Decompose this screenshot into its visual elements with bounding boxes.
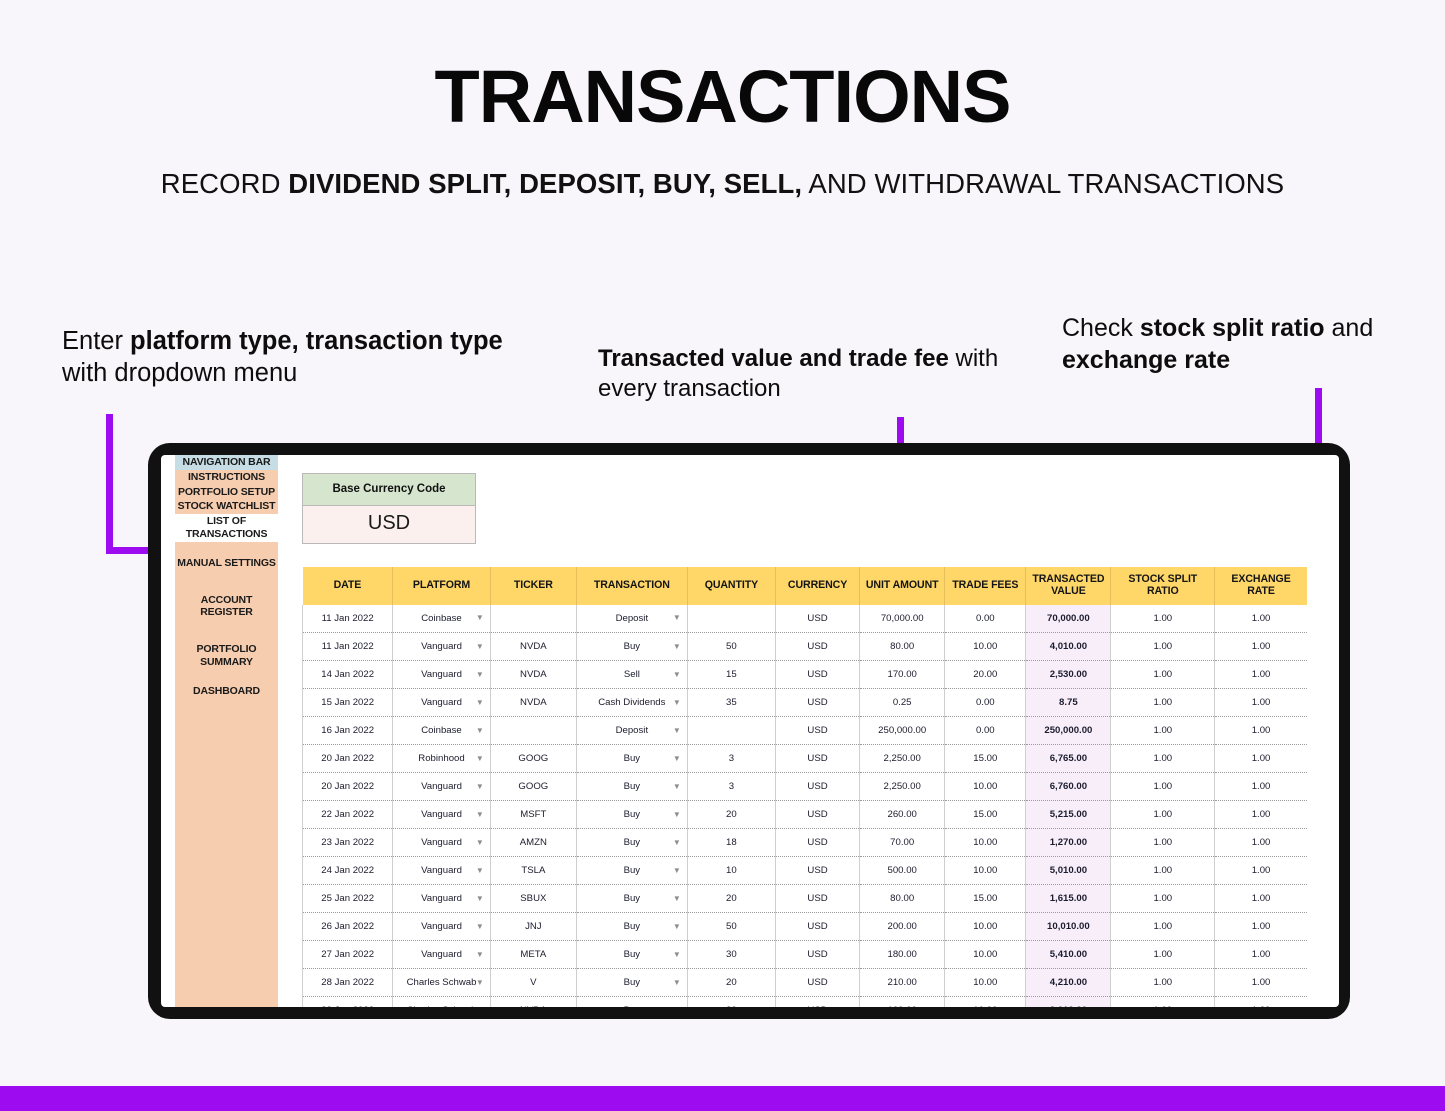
cell-date: 15 Jan 2022 (321, 697, 374, 708)
cell-date-container: 14 Jan 2022 (303, 661, 393, 689)
cell-stock-split-ratio-container: 1.00 (1111, 857, 1215, 885)
chevron-down-icon[interactable]: ▼ (476, 614, 484, 622)
cell-platform-container[interactable]: Vanguard▼ (393, 689, 490, 717)
cell-date-container: 22 Jan 2022 (303, 801, 393, 829)
cell-transacted-value-container: 6,765.00 (1026, 745, 1111, 773)
cell-transaction-container[interactable]: Deposit▼ (576, 605, 687, 633)
chevron-down-icon[interactable]: ▼ (673, 671, 681, 679)
cell-platform-container[interactable]: Vanguard▼ (393, 857, 490, 885)
cell-trade-fees-container: 0.00 (945, 717, 1026, 745)
cell-exchange-rate-container: 1.00 (1215, 773, 1307, 801)
column-header-exchange-rate: EXCHANGE RATE (1215, 567, 1307, 605)
cell-quantity-container: 50 (687, 913, 775, 941)
table-row: 20 Jan 2022Robinhood▼GOOGBuy▼3USD2,250.0… (303, 745, 1308, 773)
cell-transaction-container[interactable]: Buy▼ (576, 801, 687, 829)
cell-date: 11 Jan 2022 (322, 613, 374, 624)
chevron-down-icon[interactable]: ▼ (673, 614, 681, 622)
sidebar-item-dashboard[interactable]: DASHBOARD (175, 684, 278, 699)
cell-stock-split-ratio: 1.00 (1153, 893, 1172, 904)
callout-platform-type-part-1: platform type, transaction type (130, 327, 503, 355)
cell-date-container: 23 Jan 2022 (303, 829, 393, 857)
cell-transaction-container[interactable]: Buy▼ (576, 913, 687, 941)
page-subtitle-rich: RECORD DIVIDEND SPLIT, DEPOSIT, BUY, SEL… (161, 168, 1284, 199)
cell-ticker-container: GOOG (490, 745, 576, 773)
cell-platform: Charles Schwab (407, 1005, 477, 1007)
cell-exchange-rate: 1.00 (1252, 949, 1271, 960)
cell-unit-amount-container: 260.00 (860, 801, 945, 829)
cell-exchange-rate: 1.00 (1252, 865, 1271, 876)
cell-trade-fees-container: 10.00 (945, 997, 1026, 1007)
table-row: 25 Jan 2022Vanguard▼SBUXBuy▼20USD80.0015… (303, 885, 1308, 913)
cell-ticker-container: NVDA (490, 689, 576, 717)
cell-quantity: 15 (726, 669, 737, 680)
cell-exchange-rate-container: 1.00 (1215, 857, 1307, 885)
cell-unit-amount: 210.00 (888, 977, 917, 988)
cell-platform-container[interactable]: Vanguard▼ (393, 913, 490, 941)
cell-platform-container[interactable]: Vanguard▼ (393, 941, 490, 969)
cell-platform: Vanguard (421, 809, 462, 820)
cell-transacted-value-container: 250,000.00 (1026, 717, 1111, 745)
chevron-down-icon[interactable]: ▼ (673, 839, 681, 847)
cell-transacted-value-container: 8.75 (1026, 689, 1111, 717)
cell-currency: USD (807, 949, 827, 960)
sidebar-spacer (175, 620, 278, 642)
cell-quantity-container: 3 (687, 773, 775, 801)
chevron-down-icon[interactable]: ▼ (673, 699, 681, 707)
chevron-down-icon[interactable]: ▼ (673, 643, 681, 651)
cell-exchange-rate: 1.00 (1252, 753, 1271, 764)
cell-trade-fees-container: 15.00 (945, 885, 1026, 913)
cell-stock-split-ratio: 1.00 (1153, 697, 1172, 708)
cell-transaction: Buy (624, 977, 641, 988)
cell-stock-split-ratio-container: 1.00 (1111, 717, 1215, 745)
cell-currency-container: USD (775, 605, 859, 633)
sidebar-item-navigation-bar: NAVIGATION BAR (175, 455, 278, 470)
chevron-down-icon[interactable]: ▼ (476, 811, 484, 819)
cell-transaction-container[interactable]: Buy▼ (576, 633, 687, 661)
cell-date-container: 11 Jan 2022 (303, 633, 393, 661)
cell-quantity-container: 3 (687, 745, 775, 773)
cell-unit-amount: 200.00 (888, 921, 917, 932)
cell-trade-fees: 10.00 (973, 641, 997, 652)
chevron-down-icon[interactable]: ▼ (476, 951, 484, 959)
cell-date: 27 Jan 2022 (321, 949, 374, 960)
cell-date: 14 Jan 2022 (321, 669, 374, 680)
cell-date: 22 Jan 2022 (321, 809, 374, 820)
cell-transaction: Buy (624, 641, 641, 652)
cell-trade-fees-container: 10.00 (945, 913, 1026, 941)
cell-trade-fees: 0.00 (976, 613, 995, 624)
cell-unit-amount: 180.00 (888, 949, 917, 960)
cell-transaction-container[interactable]: Buy▼ (576, 745, 687, 773)
page-subtitle: RECORD DIVIDEND SPLIT, DEPOSIT, BUY, SEL… (0, 168, 1445, 200)
cell-trade-fees-container: 10.00 (945, 829, 1026, 857)
cell-transaction-container[interactable]: Buy▼ (576, 857, 687, 885)
cell-platform: Vanguard (421, 893, 462, 904)
callout-stock-split-part-1: stock split ratio (1140, 314, 1325, 342)
cell-exchange-rate: 1.00 (1252, 613, 1271, 624)
cell-trade-fees: 10.00 (973, 921, 997, 932)
cell-date-container: 28 Jan 2022 (303, 969, 393, 997)
cell-unit-amount-container: 170.00 (860, 661, 945, 689)
cell-transaction-container[interactable]: Buy▼ (576, 969, 687, 997)
cell-stock-split-ratio-container: 1.00 (1111, 633, 1215, 661)
cell-unit-amount-container: 250,000.00 (860, 717, 945, 745)
cell-trade-fees-container: 10.00 (945, 857, 1026, 885)
table-header-row: DATEPLATFORMTICKERTRANSACTIONQUANTITYCUR… (303, 567, 1308, 605)
cell-ticker: GOOG (518, 753, 548, 764)
sidebar-item-stock-watchlist[interactable]: STOCK WATCHLIST (175, 499, 278, 514)
cell-exchange-rate: 1.00 (1252, 837, 1271, 848)
cell-platform-container[interactable]: Vanguard▼ (393, 885, 490, 913)
cell-stock-split-ratio-container: 1.00 (1111, 661, 1215, 689)
cell-quantity: 20 (726, 809, 737, 820)
chevron-down-icon[interactable]: ▼ (673, 951, 681, 959)
cell-platform-container[interactable]: Vanguard▼ (393, 633, 490, 661)
callout-stock-split-part-3: exchange rate (1062, 346, 1230, 374)
arrow-platform-vertical (106, 414, 113, 554)
cell-transacted-value-container: 2,530.00 (1026, 661, 1111, 689)
cell-quantity-container: 20 (687, 885, 775, 913)
transactions-table: DATEPLATFORMTICKERTRANSACTIONQUANTITYCUR… (302, 567, 1307, 1007)
sidebar-item-instructions[interactable]: INSTRUCTIONS (175, 470, 278, 485)
cell-ticker: JNJ (525, 921, 542, 932)
cell-platform-container[interactable]: Charles Schwab▼ (393, 997, 490, 1007)
cell-unit-amount-container: 70.00 (860, 829, 945, 857)
chevron-down-icon[interactable]: ▼ (673, 895, 681, 903)
cell-exchange-rate: 1.00 (1252, 921, 1271, 932)
cell-transacted-value: 2,010.00 (1050, 1005, 1087, 1007)
callout-platform-type-part-0: Enter (62, 327, 130, 355)
cell-unit-amount-container: 200.00 (860, 913, 945, 941)
cell-quantity-container: 20 (687, 997, 775, 1007)
cell-stock-split-ratio-container: 1.00 (1111, 801, 1215, 829)
cell-quantity: 50 (726, 921, 737, 932)
column-header-trade-fees: TRADE FEES (945, 567, 1026, 605)
cell-trade-fees: 15.00 (973, 753, 997, 764)
table-row: 23 Jan 2022Vanguard▼AMZNBuy▼18USD70.0010… (303, 829, 1308, 857)
table-row: 20 Jan 2022Vanguard▼GOOGBuy▼3USD2,250.00… (303, 773, 1308, 801)
cell-date: 25 Jan 2022 (321, 893, 374, 904)
cell-stock-split-ratio-container: 1.00 (1111, 745, 1215, 773)
cell-date: 20 Jan 2022 (321, 781, 374, 792)
cell-currency-container: USD (775, 829, 859, 857)
column-header-transaction: TRANSACTION (576, 567, 687, 605)
cell-platform-container[interactable]: Vanguard▼ (393, 801, 490, 829)
navigation-sidebar[interactable]: NAVIGATION BARINSTRUCTIONSPORTFOLIO SETU… (175, 455, 278, 1007)
cell-transaction-container[interactable]: Deposit▼ (576, 717, 687, 745)
cell-stock-split-ratio: 1.00 (1153, 977, 1172, 988)
cell-currency-container: USD (775, 885, 859, 913)
chevron-down-icon[interactable]: ▼ (476, 643, 484, 651)
chevron-down-icon[interactable]: ▼ (476, 699, 484, 707)
cell-unit-amount: 260.00 (888, 809, 917, 820)
cell-exchange-rate-container: 1.00 (1215, 661, 1307, 689)
cell-transaction-container[interactable]: Buy▼ (576, 829, 687, 857)
cell-platform: Vanguard (421, 641, 462, 652)
cell-platform-container[interactable]: Vanguard▼ (393, 829, 490, 857)
cell-quantity: 3 (729, 781, 734, 792)
chevron-down-icon[interactable]: ▼ (673, 923, 681, 931)
cell-date: 24 Jan 2022 (321, 865, 374, 876)
cell-ticker-container: AMZN (490, 829, 576, 857)
spreadsheet-screen: NAVIGATION BARINSTRUCTIONSPORTFOLIO SETU… (161, 455, 1339, 1007)
cell-exchange-rate: 1.00 (1252, 725, 1271, 736)
cell-currency-container: USD (775, 773, 859, 801)
subtitle-part-2: AND WITHDRAWAL TRANSACTIONS (802, 168, 1284, 199)
cell-transaction: Deposit (616, 613, 649, 624)
cell-transaction: Buy (624, 781, 641, 792)
table-row: 28 Jan 2022Charles Schwab▼VBuy▼20USD210.… (303, 969, 1308, 997)
table-header: DATEPLATFORMTICKERTRANSACTIONQUANTITYCUR… (303, 567, 1308, 605)
bottom-accent-bar (0, 1086, 1445, 1111)
cell-stock-split-ratio-container: 1.00 (1111, 913, 1215, 941)
cell-currency: USD (807, 669, 827, 680)
cell-stock-split-ratio-container: 1.00 (1111, 885, 1215, 913)
cell-currency-container: USD (775, 801, 859, 829)
cell-ticker-container: SBUX (490, 885, 576, 913)
table-row: 14 Jan 2022Vanguard▼NVDASell▼15USD170.00… (303, 661, 1308, 689)
cell-transacted-value-container: 6,760.00 (1026, 773, 1111, 801)
cell-unit-amount-container: 80.00 (860, 633, 945, 661)
column-header-platform: PLATFORM (393, 567, 490, 605)
cell-transacted-value-container: 4,010.00 (1026, 633, 1111, 661)
cell-ticker-container: GOOG (490, 773, 576, 801)
cell-exchange-rate: 1.00 (1252, 893, 1271, 904)
cell-platform-container[interactable]: Charles Schwab▼ (393, 969, 490, 997)
cell-currency: USD (807, 837, 827, 848)
cell-quantity-container: 20 (687, 969, 775, 997)
cell-date-container: 11 Jan 2022 (303, 605, 393, 633)
cell-trade-fees: 10.00 (973, 977, 997, 988)
cell-stock-split-ratio: 1.00 (1153, 669, 1172, 680)
cell-unit-amount-container: 80.00 (860, 885, 945, 913)
table-body: 11 Jan 2022Coinbase▼Deposit▼USD70,000.00… (303, 605, 1308, 1007)
callout-transacted-value-part-0: Transacted value and trade fee (598, 345, 949, 372)
cell-stock-split-ratio: 1.00 (1153, 949, 1172, 960)
cell-trade-fees: 10.00 (973, 781, 997, 792)
table-row: 26 Jan 2022Vanguard▼JNJBuy▼50USD200.0010… (303, 913, 1308, 941)
cell-transacted-value-container: 1,615.00 (1026, 885, 1111, 913)
cell-trade-fees: 10.00 (973, 837, 997, 848)
sidebar-spacer (175, 542, 278, 556)
cell-transacted-value: 10,010.00 (1047, 921, 1090, 932)
cell-transacted-value: 70,000.00 (1047, 613, 1090, 624)
cell-transacted-value: 4,010.00 (1050, 641, 1087, 652)
column-header-quantity: QUANTITY (687, 567, 775, 605)
table-row: 24 Jan 2022Vanguard▼TSLABuy▼10USD500.001… (303, 857, 1308, 885)
callout-platform-type: Enter platform type, transaction type wi… (62, 325, 542, 390)
cell-ticker: NVDA (520, 669, 547, 680)
cell-exchange-rate-container: 1.00 (1215, 997, 1307, 1007)
cell-unit-amount-container: 210.00 (860, 969, 945, 997)
cell-trade-fees-container: 10.00 (945, 941, 1026, 969)
chevron-down-icon[interactable]: ▼ (673, 867, 681, 875)
cell-stock-split-ratio-container: 1.00 (1111, 969, 1215, 997)
cell-transaction: Buy (624, 809, 641, 820)
cell-platform-container[interactable]: Coinbase▼ (393, 717, 490, 745)
cell-exchange-rate-container: 1.00 (1215, 941, 1307, 969)
callout-platform-type-part-2: with dropdown menu (62, 359, 297, 387)
cell-transaction-container[interactable]: Sell▼ (576, 661, 687, 689)
chevron-down-icon[interactable]: ▼ (476, 923, 484, 931)
cell-date-container: 15 Jan 2022 (303, 689, 393, 717)
cell-quantity: 20 (726, 1005, 737, 1007)
cell-quantity: 30 (726, 949, 737, 960)
cell-platform-container[interactable]: Vanguard▼ (393, 661, 490, 689)
table-row: 16 Jan 2022Coinbase▼Deposit▼USD250,000.0… (303, 717, 1308, 745)
cell-ticker-container: MSFT (490, 801, 576, 829)
cell-stock-split-ratio: 1.00 (1153, 753, 1172, 764)
cell-currency: USD (807, 725, 827, 736)
cell-exchange-rate-container: 1.00 (1215, 605, 1307, 633)
cell-currency-container: USD (775, 661, 859, 689)
sidebar-item-account-register[interactable]: ACCOUNT REGISTER (175, 593, 278, 621)
cell-platform-container[interactable]: Robinhood▼ (393, 745, 490, 773)
cell-date-container: 29 Jan 2022 (303, 997, 393, 1007)
cell-exchange-rate-container: 1.00 (1215, 885, 1307, 913)
column-header-ticker: TICKER (490, 567, 576, 605)
cell-stock-split-ratio: 1.00 (1153, 641, 1172, 652)
cell-currency: USD (807, 697, 827, 708)
cell-transaction-container[interactable]: Buy▼ (576, 773, 687, 801)
cell-currency-container: USD (775, 689, 859, 717)
cell-stock-split-ratio-container: 1.00 (1111, 773, 1215, 801)
chevron-down-icon[interactable]: ▼ (673, 979, 681, 987)
cell-transaction: Buy (624, 865, 641, 876)
cell-date: 11 Jan 2022 (322, 641, 374, 652)
cell-transaction: Cash Dividends (598, 697, 665, 708)
cell-exchange-rate-container: 1.00 (1215, 717, 1307, 745)
cell-trade-fees-container: 15.00 (945, 745, 1026, 773)
cell-unit-amount-container: 180.00 (860, 941, 945, 969)
cell-platform-container[interactable]: Coinbase▼ (393, 605, 490, 633)
cell-stock-split-ratio-container: 1.00 (1111, 941, 1215, 969)
cell-ticker: NVDA (520, 697, 547, 708)
cell-currency: USD (807, 977, 827, 988)
cell-date: 28 Jan 2022 (321, 977, 374, 988)
cell-currency-container: USD (775, 913, 859, 941)
cell-unit-amount: 100.00 (888, 1005, 917, 1007)
tablet-frame: NAVIGATION BARINSTRUCTIONSPORTFOLIO SETU… (148, 443, 1350, 1019)
cell-transaction: Deposit (616, 725, 649, 736)
cell-date-container: 24 Jan 2022 (303, 857, 393, 885)
chevron-down-icon[interactable]: ▼ (476, 839, 484, 847)
cell-transacted-value: 6,765.00 (1050, 753, 1087, 764)
cell-transaction: Buy (624, 837, 641, 848)
cell-quantity-container: 20 (687, 801, 775, 829)
chevron-down-icon[interactable]: ▼ (476, 727, 484, 735)
chevron-down-icon[interactable]: ▼ (673, 755, 681, 763)
cell-quantity-container (687, 717, 775, 745)
cell-platform: Vanguard (421, 781, 462, 792)
cell-currency: USD (807, 893, 827, 904)
chevron-down-icon[interactable]: ▼ (476, 979, 484, 987)
sidebar-spacer (175, 571, 278, 593)
chevron-down-icon[interactable]: ▼ (673, 783, 681, 791)
cell-stock-split-ratio-container: 1.00 (1111, 605, 1215, 633)
cell-transaction-container[interactable]: Buy▼ (576, 885, 687, 913)
cell-quantity-container: 50 (687, 633, 775, 661)
chevron-down-icon[interactable]: ▼ (476, 867, 484, 875)
cell-quantity: 18 (726, 837, 737, 848)
chevron-down-icon[interactable]: ▼ (476, 895, 484, 903)
chevron-down-icon[interactable]: ▼ (476, 671, 484, 679)
cell-exchange-rate: 1.00 (1252, 669, 1271, 680)
cell-transaction-container[interactable]: Buy▼ (576, 941, 687, 969)
cell-quantity-container (687, 605, 775, 633)
cell-ticker-container: TSLA (490, 857, 576, 885)
cell-ticker-container: JNJ (490, 913, 576, 941)
cell-quantity-container: 18 (687, 829, 775, 857)
cell-transacted-value: 2,530.00 (1050, 669, 1087, 680)
cell-stock-split-ratio-container: 1.00 (1111, 689, 1215, 717)
chevron-down-icon[interactable]: ▼ (673, 727, 681, 735)
cell-exchange-rate: 1.00 (1252, 781, 1271, 792)
cell-currency: USD (807, 921, 827, 932)
cell-exchange-rate: 1.00 (1252, 641, 1271, 652)
cell-ticker: MSFT (520, 809, 546, 820)
cell-transacted-value: 5,215.00 (1050, 809, 1087, 820)
cell-trade-fees-container: 10.00 (945, 633, 1026, 661)
cell-unit-amount: 500.00 (888, 865, 917, 876)
cell-transacted-value: 8.75 (1059, 697, 1078, 708)
cell-transaction: Buy (624, 921, 641, 932)
cell-stock-split-ratio: 1.00 (1153, 725, 1172, 736)
sidebar-item-portfolio-setup[interactable]: PORTFOLIO SETUP (175, 485, 278, 500)
cell-trade-fees: 10.00 (973, 865, 997, 876)
cell-currency-container: USD (775, 997, 859, 1007)
cell-trade-fees: 15.00 (973, 809, 997, 820)
sidebar-item-portfolio-summary[interactable]: PORTFOLIO SUMMARY (175, 642, 278, 670)
base-currency-value[interactable]: USD (303, 506, 475, 543)
cell-transacted-value: 5,010.00 (1050, 865, 1087, 876)
cell-unit-amount-container: 100.00 (860, 997, 945, 1007)
cell-ticker: GOOG (518, 781, 548, 792)
sidebar-item-list-of-transactions[interactable]: LIST OF TRANSACTIONS (175, 514, 278, 542)
cell-exchange-rate-container: 1.00 (1215, 913, 1307, 941)
chevron-down-icon[interactable]: ▼ (476, 755, 484, 763)
table-row: 11 Jan 2022Coinbase▼Deposit▼USD70,000.00… (303, 605, 1308, 633)
cell-ticker: AMZN (520, 837, 547, 848)
cell-transacted-value-container: 2,010.00 (1026, 997, 1111, 1007)
sidebar-item-manual-settings[interactable]: MANUAL SETTINGS (175, 556, 278, 571)
cell-platform: Coinbase (421, 613, 462, 624)
cell-ticker-container: META (490, 941, 576, 969)
cell-transacted-value-container: 5,010.00 (1026, 857, 1111, 885)
table-row: 22 Jan 2022Vanguard▼MSFTBuy▼20USD260.001… (303, 801, 1308, 829)
cell-transaction-container[interactable]: Buy▼ (576, 997, 687, 1007)
cell-date: 20 Jan 2022 (321, 753, 374, 764)
cell-transaction-container[interactable]: Cash Dividends▼ (576, 689, 687, 717)
callout-stock-split-part-2: and (1325, 314, 1374, 342)
cell-transaction: Buy (624, 753, 641, 764)
cell-platform-container[interactable]: Vanguard▼ (393, 773, 490, 801)
cell-quantity-container: 10 (687, 857, 775, 885)
cell-currency: USD (807, 753, 827, 764)
cell-transacted-value: 5,410.00 (1050, 949, 1087, 960)
cell-transacted-value: 1,615.00 (1050, 893, 1087, 904)
table-row: 27 Jan 2022Vanguard▼METABuy▼30USD180.001… (303, 941, 1308, 969)
cell-stock-split-ratio: 1.00 (1153, 809, 1172, 820)
chevron-down-icon[interactable]: ▼ (673, 811, 681, 819)
chevron-down-icon[interactable]: ▼ (476, 783, 484, 791)
cell-platform: Vanguard (421, 949, 462, 960)
cell-unit-amount-container: 500.00 (860, 857, 945, 885)
cell-stock-split-ratio: 1.00 (1153, 1005, 1172, 1007)
cell-transacted-value: 250,000.00 (1044, 725, 1092, 736)
cell-date: 16 Jan 2022 (321, 725, 374, 736)
